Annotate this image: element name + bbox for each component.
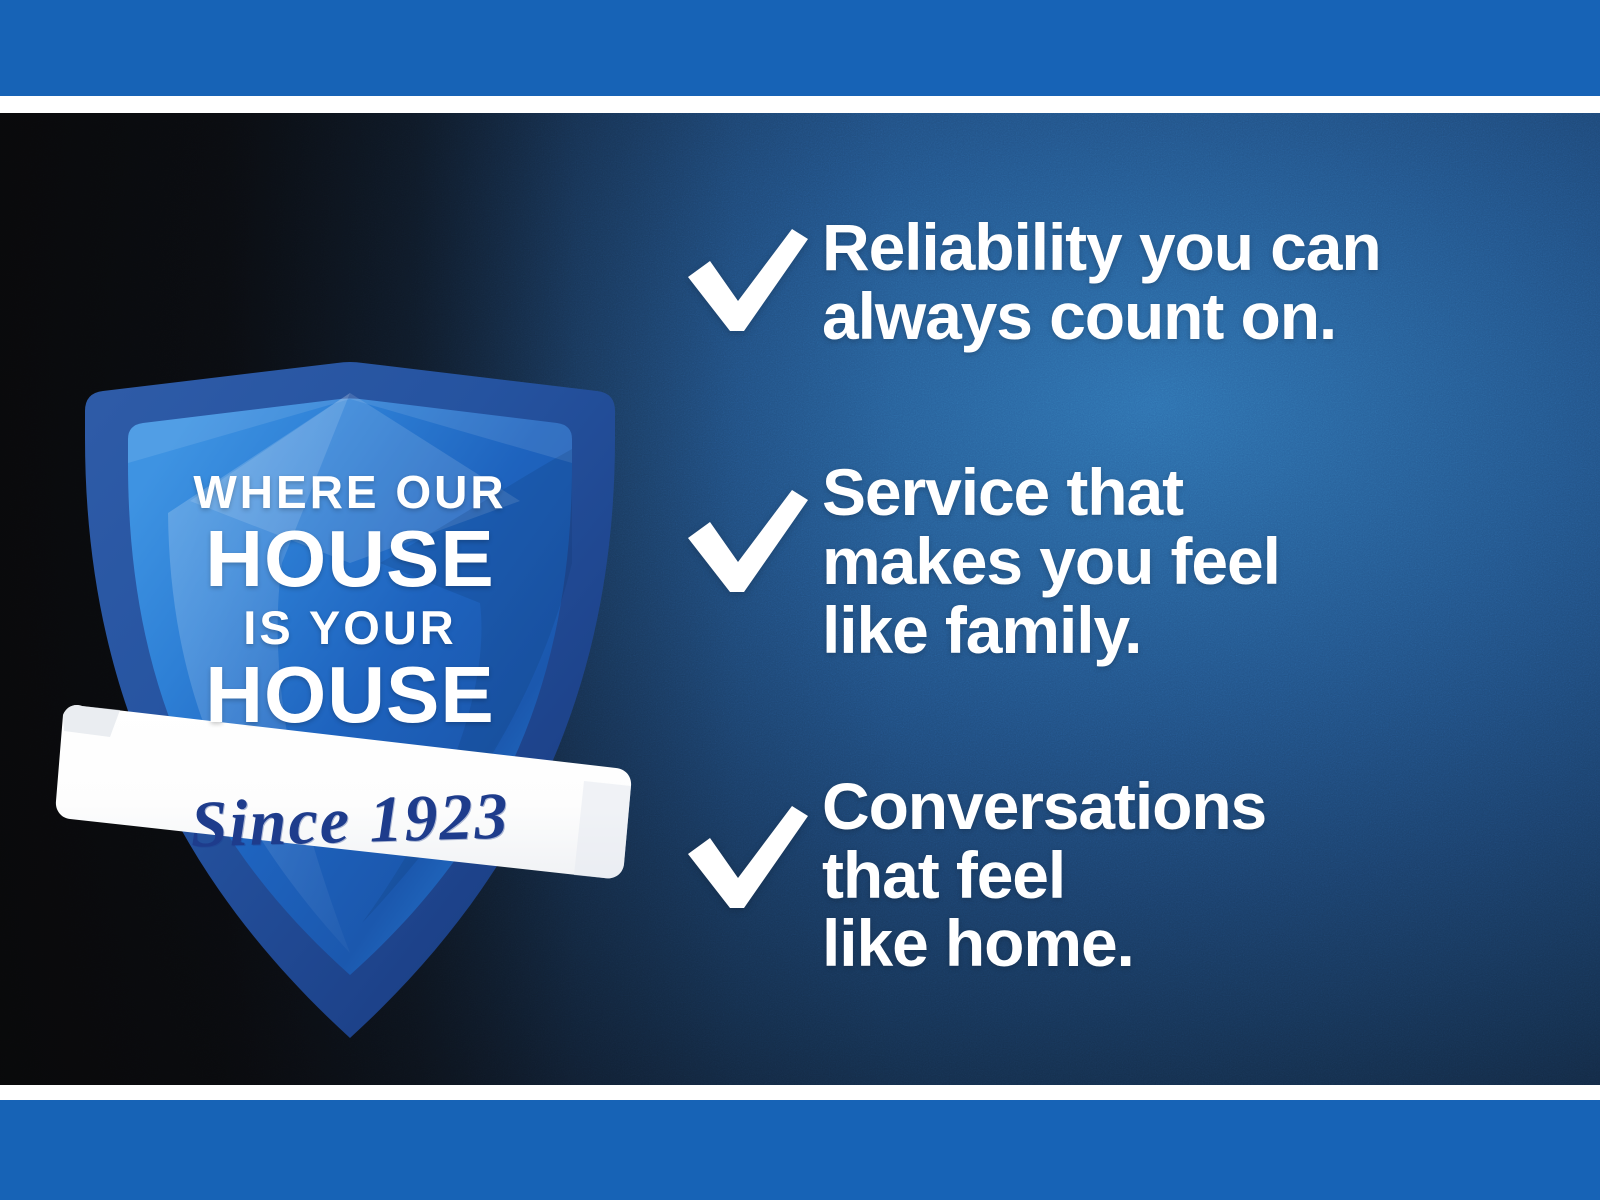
benefit-text: Service that makes you feel like family. [822, 458, 1512, 664]
checkmark-icon [672, 458, 822, 568]
benefit-item: Reliability you can always count on. [672, 211, 1512, 350]
checkmark-icon [672, 772, 822, 882]
emblem-tagline-line3: IS YOUR [50, 604, 650, 651]
checkmark-icon [672, 211, 822, 321]
emblem-tagline-line4: HOUSE [50, 655, 650, 735]
benefit-item: Service that makes you feel like family. [672, 458, 1512, 664]
hero-stage: WHERE OUR HOUSE IS YOUR HOUSE Since 1923… [0, 113, 1600, 1085]
bottom-divider [0, 1085, 1600, 1100]
emblem-tagline-line2: HOUSE [50, 519, 650, 599]
benefit-item: Conversations that feel like home. [672, 772, 1512, 978]
top-divider [0, 96, 1600, 113]
shield-emblem: WHERE OUR HOUSE IS YOUR HOUSE Since 1923 [50, 263, 650, 913]
top-brand-band [0, 0, 1600, 96]
bottom-brand-band [0, 1100, 1600, 1200]
benefit-list: Reliability you can always count on. Ser… [672, 211, 1512, 978]
promo-graphic: WHERE OUR HOUSE IS YOUR HOUSE Since 1923… [0, 0, 1600, 1200]
benefit-text: Conversations that feel like home. [822, 772, 1512, 978]
emblem-tagline-line1: WHERE OUR [50, 469, 650, 515]
benefit-text: Reliability you can always count on. [822, 211, 1512, 350]
